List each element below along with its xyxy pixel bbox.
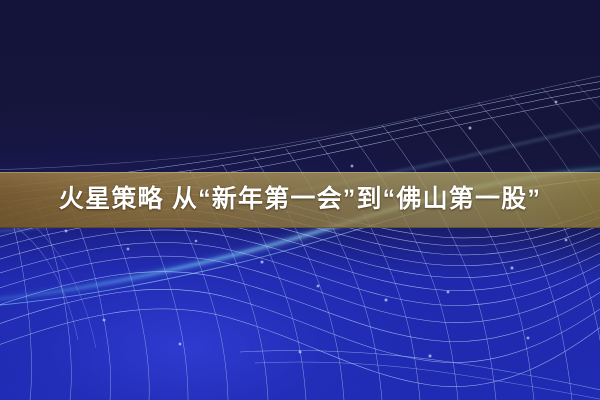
headline-band: 火星策略 从“新年第一会”到“佛山第一股” [0, 172, 600, 228]
banner-image: 火星策略 从“新年第一会”到“佛山第一股” [0, 0, 600, 400]
headline-band-bottom-edge [0, 227, 600, 228]
headline-band-top-edge [0, 172, 600, 173]
page-title: 火星策略 从“新年第一会”到“佛山第一股” [59, 187, 541, 213]
